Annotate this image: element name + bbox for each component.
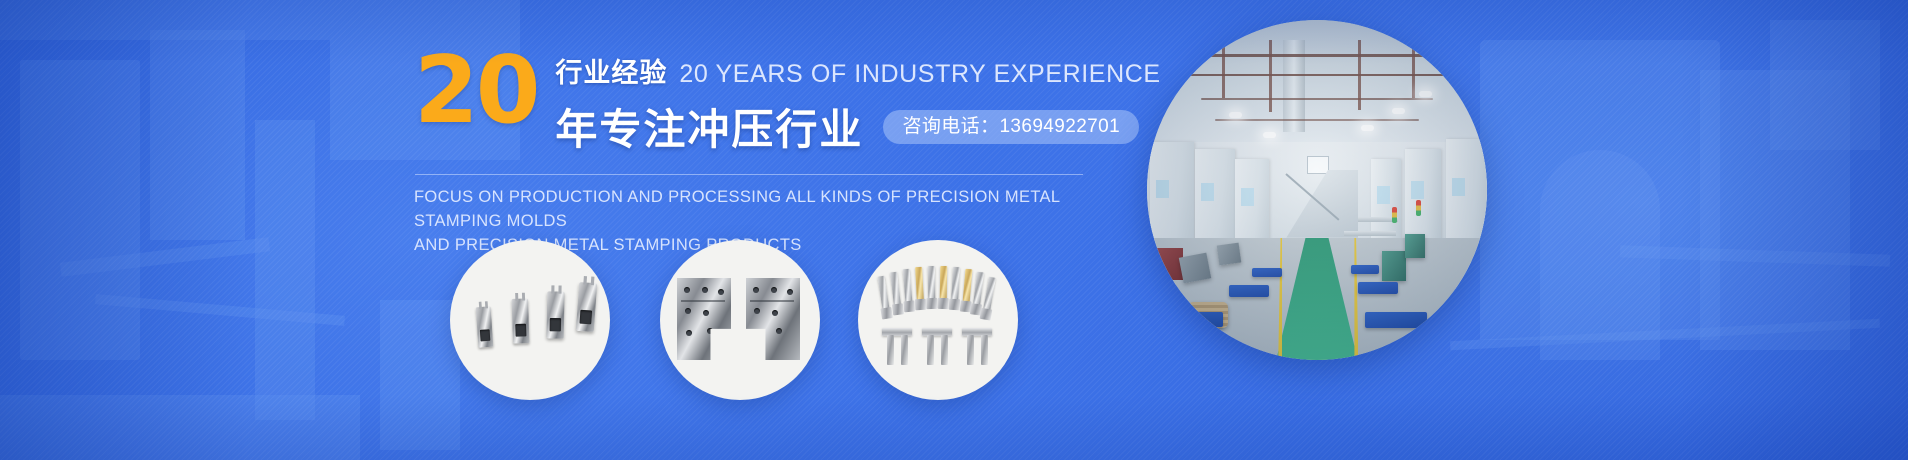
workshop-scene [1147,20,1487,360]
headline-block: 20 行业经验 20 YEARS OF INDUSTRY EXPERIENCE … [414,44,1114,258]
tagline-en: 20 YEARS OF INDUSTRY EXPERIENCE [679,60,1160,89]
headline-row: 20 行业经验 20 YEARS OF INDUSTRY EXPERIENCE … [414,44,1114,157]
headline-cn-main: 年专注冲压行业 [555,96,863,157]
main-headline-row: 年专注冲压行业 咨询电话：13694922701 [555,96,1160,157]
headline-text-group: 行业经验 20 YEARS OF INDUSTRY EXPERIENCE 年专注… [555,44,1160,157]
headline-divider [415,174,1083,175]
tagline-row: 行业经验 20 YEARS OF INDUSTRY EXPERIENCE [555,51,1160,90]
terminal-pins-photo [858,240,1018,400]
stamping-mold-photo [660,240,820,400]
product-circle-usb-connectors[interactable] [450,240,610,400]
factory-workshop-photo[interactable] [1147,20,1487,360]
phone-badge[interactable]: 咨询电话：13694922701 [883,110,1139,144]
tagline-cn: 行业经验 [555,51,667,90]
product-circle-stamping-molds[interactable] [660,240,820,400]
years-number: 20 [414,48,537,134]
usb-connector-photo [450,240,610,400]
product-circle-terminal-pins[interactable] [858,240,1018,400]
company-hero-banner: 20 行业经验 20 YEARS OF INDUSTRY EXPERIENCE … [0,0,1908,460]
subcopy-line-1: FOCUS ON PRODUCTION AND PROCESSING ALL K… [414,186,1104,234]
